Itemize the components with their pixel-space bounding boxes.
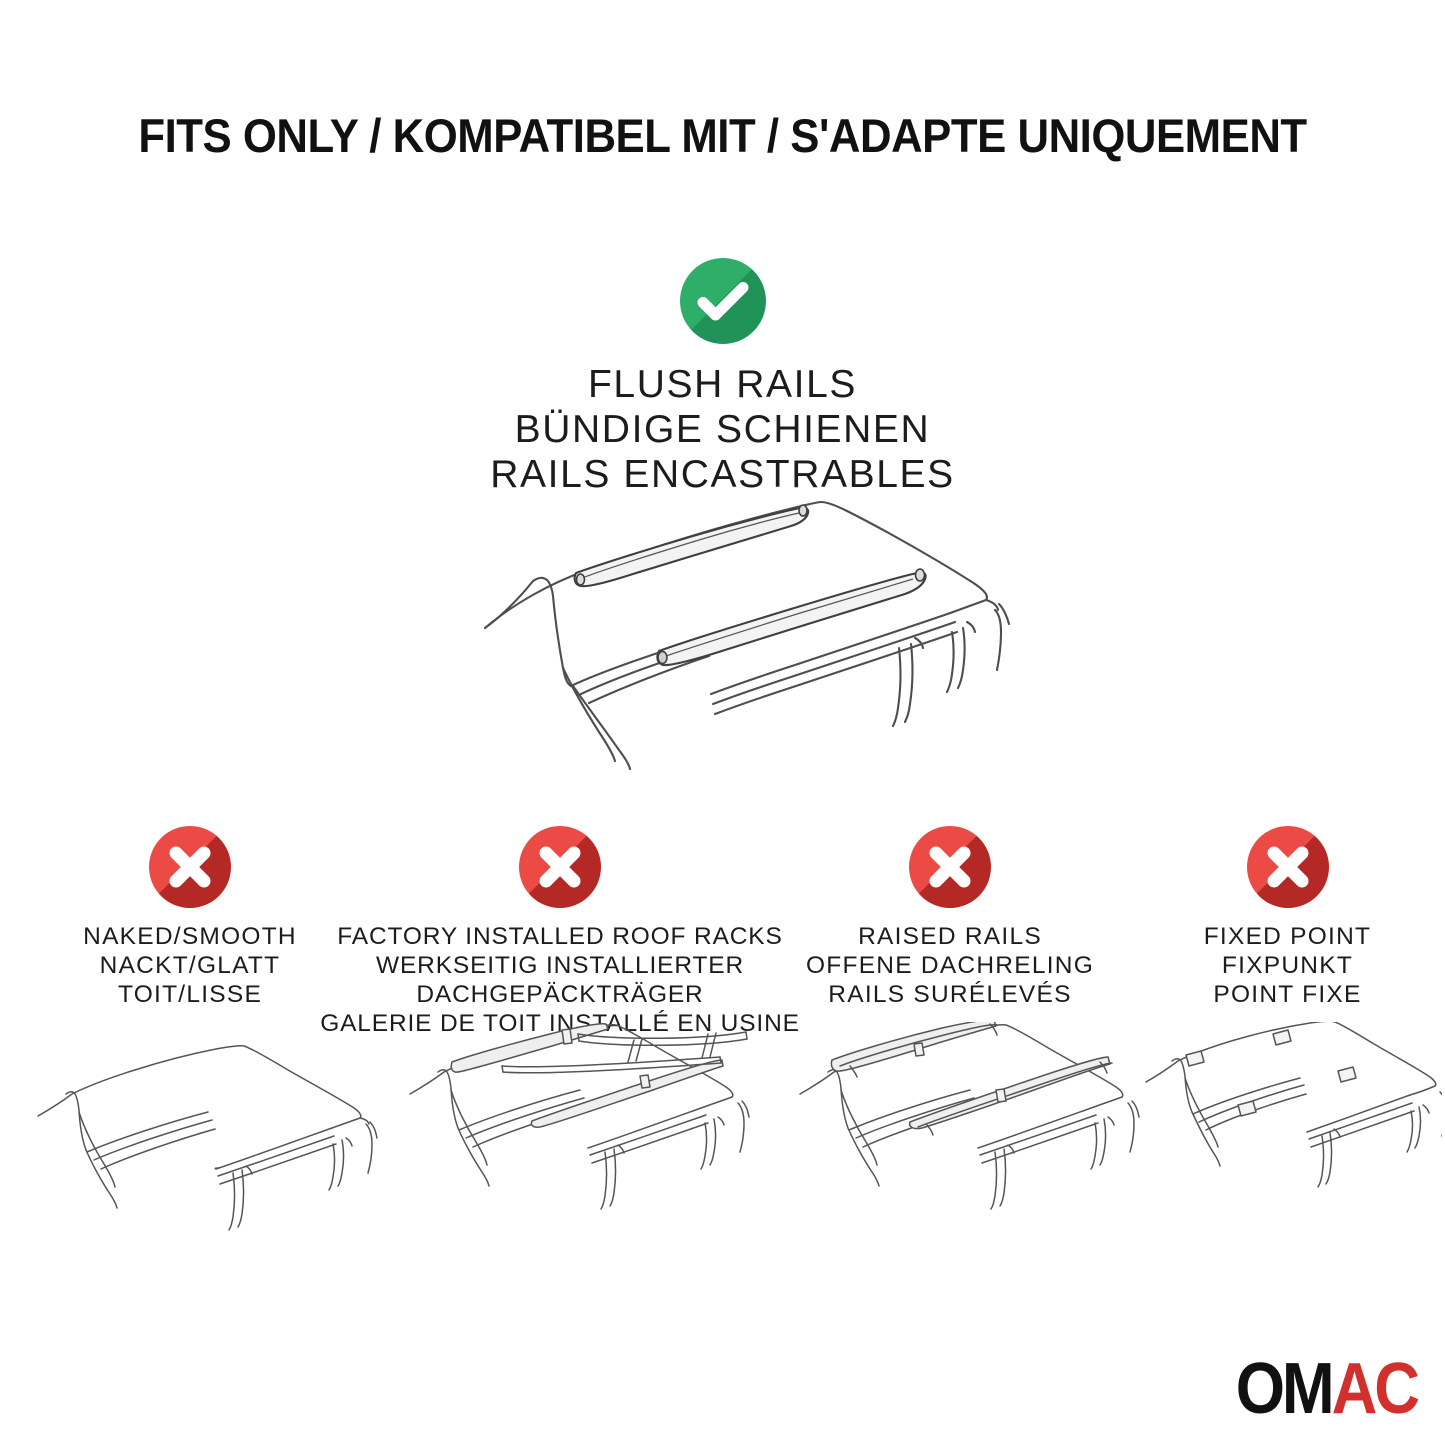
incompatible-badge-1 — [519, 826, 601, 908]
incompatible-labels-2: RAISED RAILS OFFENE DACHRELING RAILS SUR… — [806, 922, 1094, 1009]
incompatible-badge-3 — [1247, 826, 1329, 908]
incompatible-label-2-de: OFFENE DACHRELING — [806, 951, 1094, 980]
incompatible-label-1-de: WERKSEITIG INSTALLIERTER — [320, 951, 800, 980]
omac-logo: OM AC — [1236, 1353, 1417, 1425]
logo-text-dark: OM — [1236, 1353, 1332, 1425]
approved-labels: FLUSH RAILS BÜNDIGE SCHIENEN RAILS ENCAS… — [490, 362, 954, 497]
incompatible-item-raised-rails: RAISED RAILS OFFENE DACHRELING RAILS SUR… — [770, 826, 1130, 1009]
x-circle-icon — [1247, 826, 1329, 908]
incompatible-label-1-en: FACTORY INSTALLED ROOF RACKS — [320, 922, 800, 951]
incompatible-label-1-de2: DACHGEPÄCKTRÄGER — [320, 980, 800, 1009]
incompatible-item-fixed-point: FIXED POINT FIXPUNKT POINT FIXE — [1130, 826, 1445, 1009]
incompatible-item-naked-smooth: NAKED/SMOOTH NACKT/GLATT TOIT/LISSE — [0, 826, 350, 1009]
incompatible-label-3-de: FIXPUNKT — [1204, 951, 1372, 980]
approved-label-en: FLUSH RAILS — [490, 362, 954, 407]
incompatible-badge-2 — [909, 826, 991, 908]
logo-text-accent: AC — [1332, 1353, 1417, 1425]
x-circle-icon — [519, 826, 601, 908]
approved-label-de: BÜNDIGE SCHIENEN — [490, 407, 954, 452]
incompatible-labels-1: FACTORY INSTALLED ROOF RACKS WERKSEITIG … — [320, 922, 800, 1038]
incompatible-label-3-fr: POINT FIXE — [1204, 980, 1372, 1009]
approved-badge — [680, 258, 766, 344]
car-roof-flush-rails-diagram — [455, 478, 1015, 778]
incompatible-label-2-en: RAISED RAILS — [806, 922, 1094, 951]
incompatible-label-3-en: FIXED POINT — [1204, 922, 1372, 951]
check-circle-icon — [680, 258, 766, 344]
x-circle-icon — [909, 826, 991, 908]
incompatible-badge-0 — [149, 826, 231, 908]
incompatible-label-0-de: NACKT/GLATT — [83, 951, 297, 980]
incompatible-label-0-fr: TOIT/LISSE — [83, 980, 297, 1009]
incompatible-row: NAKED/SMOOTH NACKT/GLATT TOIT/LISSE FACT… — [0, 826, 1445, 1038]
page-title: FITS ONLY / KOMPATIBEL MIT / S'ADAPTE UN… — [51, 108, 1395, 163]
x-circle-icon — [149, 826, 231, 908]
car-roof-raised-rails-diagram — [792, 1022, 1170, 1237]
incompatible-label-0-en: NAKED/SMOOTH — [83, 922, 297, 951]
incompatible-labels-0: NAKED/SMOOTH NACKT/GLATT TOIT/LISSE — [83, 922, 297, 1009]
car-roof-fixed-point-diagram — [1142, 1022, 1442, 1237]
car-roof-factory-racks-diagram — [402, 1022, 780, 1237]
approved-compatibility-block: FLUSH RAILS BÜNDIGE SCHIENEN RAILS ENCAS… — [0, 258, 1445, 497]
incompatible-item-factory-racks: FACTORY INSTALLED ROOF RACKS WERKSEITIG … — [350, 826, 770, 1038]
incompatible-labels-3: FIXED POINT FIXPUNKT POINT FIXE — [1204, 922, 1372, 1009]
car-roof-naked-smooth-diagram — [30, 1032, 390, 1247]
incompatible-label-2-fr: RAILS SURÉLEVÉS — [806, 980, 1094, 1009]
